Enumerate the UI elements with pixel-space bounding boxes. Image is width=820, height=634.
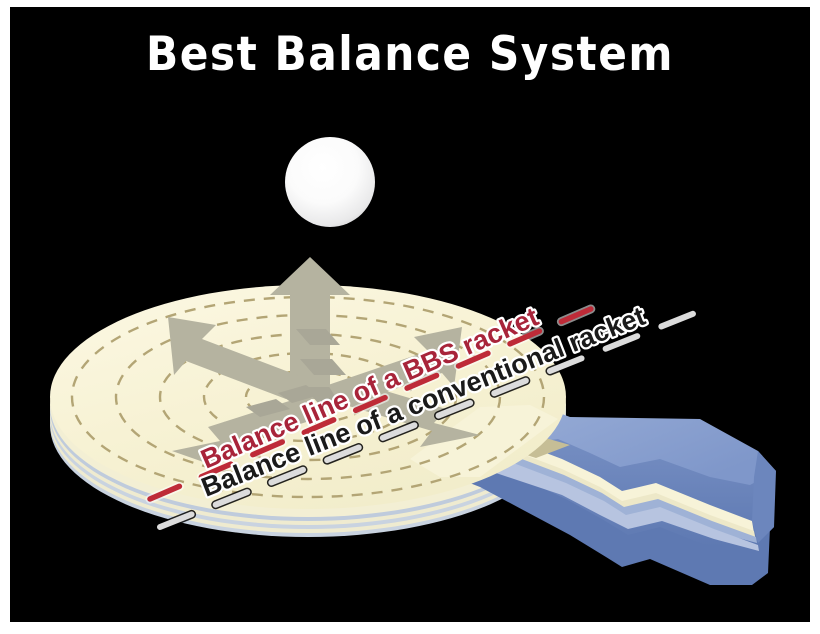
screenshot-stage: Best Balance System [0, 0, 820, 634]
best-balance-system-illustration: Balance line of a conventional racket Ba… [10, 7, 810, 622]
illustration-canvas: Best Balance System [10, 7, 810, 622]
ping-pong-ball [285, 137, 375, 227]
